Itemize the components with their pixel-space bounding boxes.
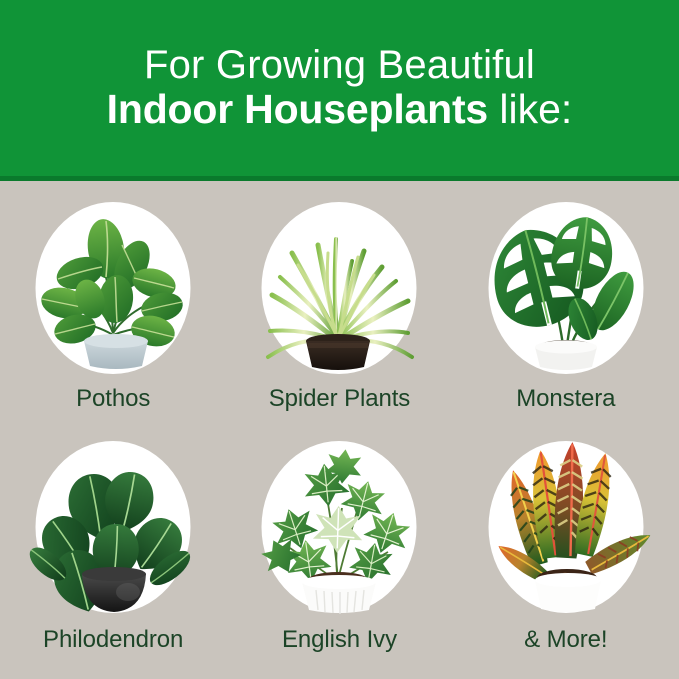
philodendron-plant-icon <box>20 434 206 620</box>
plant-label: Pothos <box>76 385 150 413</box>
plant-cell-spider-plants[interactable]: Spider Plants <box>226 181 452 430</box>
plant-tile <box>246 434 432 620</box>
plant-cell-english-ivy[interactable]: English Ivy <box>226 424 452 673</box>
plant-tile <box>246 195 432 381</box>
pothos-plant-icon <box>20 195 206 381</box>
plant-label: & More! <box>524 626 607 654</box>
banner-header: For Growing Beautiful Indoor Houseplants… <box>0 0 679 176</box>
plant-tile <box>20 434 206 620</box>
header-title-emphasis: Indoor Houseplants <box>107 86 488 132</box>
plant-tile <box>473 195 659 381</box>
plant-grid-row: Pothos <box>0 181 679 430</box>
plant-label: Monstera <box>516 385 615 413</box>
plant-label: English Ivy <box>282 626 397 654</box>
english-ivy-plant-icon <box>246 434 432 620</box>
croton-plant-icon <box>473 434 659 620</box>
plant-tile <box>20 195 206 381</box>
plant-grid: Pothos <box>0 181 679 679</box>
plant-cell-pothos[interactable]: Pothos <box>0 181 226 430</box>
houseplants-banner: For Growing Beautiful Indoor Houseplants… <box>0 0 679 679</box>
plant-cell-philodendron[interactable]: Philodendron <box>0 424 226 673</box>
plant-label: Philodendron <box>43 626 183 654</box>
header-title-suffix: like: <box>488 86 572 132</box>
plant-cell-more[interactable]: & More! <box>453 424 679 673</box>
plant-label: Spider Plants <box>269 385 410 413</box>
plant-cell-monstera[interactable]: Monstera <box>453 181 679 430</box>
header-title-line-1: For Growing Beautiful <box>144 44 535 86</box>
plant-grid-row: Philodendron <box>0 424 679 673</box>
plant-tile <box>473 434 659 620</box>
spider-plant-icon <box>246 195 432 381</box>
header-title-line-2: Indoor Houseplants like: <box>107 88 573 131</box>
monstera-plant-icon <box>473 195 659 381</box>
